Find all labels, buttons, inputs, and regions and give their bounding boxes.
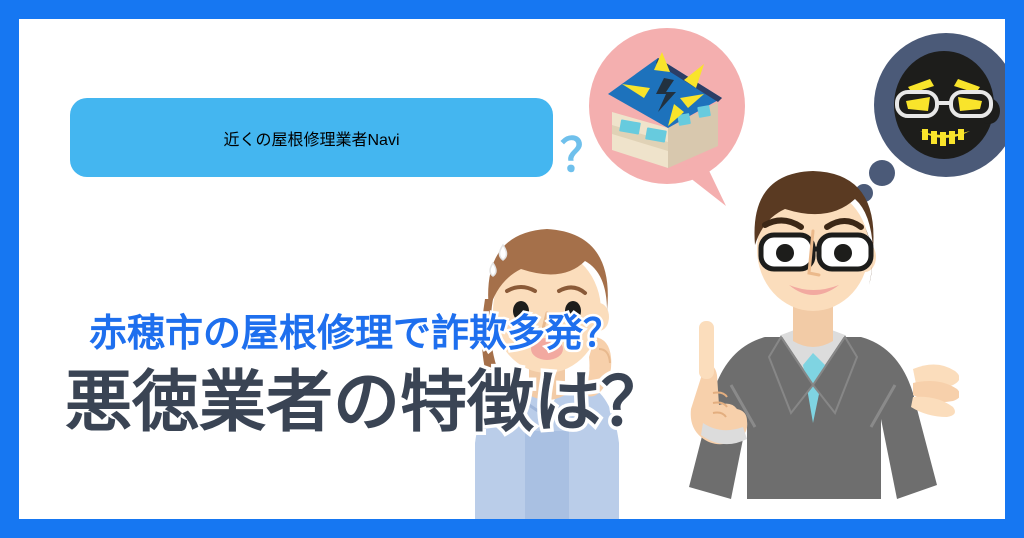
open-hand bbox=[911, 364, 959, 417]
headline-line-1: 赤穂市の屋根修理で詐欺多発？ bbox=[89, 315, 719, 353]
thumbnail-frame: 近くの屋根修理業者Navi ？ 赤穂市の屋根修理で詐欺多発？ 悪徳業者の特徴は？ bbox=[0, 0, 1024, 538]
thumbnail-canvas: 近くの屋根修理業者Navi ？ 赤穂市の屋根修理で詐欺多発？ 悪徳業者の特徴は？ bbox=[19, 19, 1005, 519]
headline-line-2: 悪徳業者の特徴は？ bbox=[65, 369, 719, 436]
badge-question-mark: ？ bbox=[560, 132, 606, 178]
headline-block: 赤穂市の屋根修理で詐欺多発？ 悪徳業者の特徴は？ bbox=[19, 315, 719, 436]
site-name-badge[interactable]: 近くの屋根修理業者Navi bbox=[70, 98, 553, 177]
site-name-label: 近くの屋根修理業者Navi bbox=[223, 126, 399, 150]
